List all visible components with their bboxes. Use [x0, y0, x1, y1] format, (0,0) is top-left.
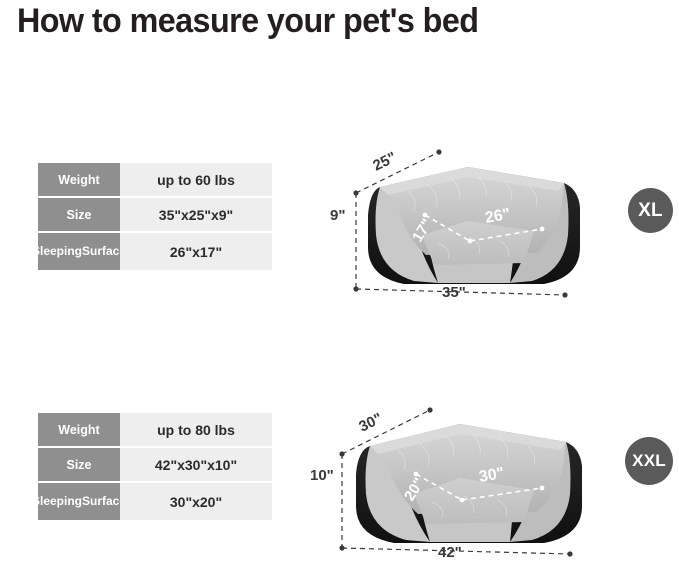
- spec-table-xxl: Weight up to 80 lbs Size 42"x30"x10" Sle…: [38, 413, 272, 522]
- pet-bed-illustration-xl: 25" 9" 35" 17" 26": [318, 95, 618, 305]
- spec-table-xl: Weight up to 60 lbs Size 35"x25"x9" Slee…: [38, 163, 272, 272]
- row-value-size: 35"x25"x9": [120, 198, 272, 231]
- pet-bed-illustration-xxl: 30" 10" 42" 20" 30": [308, 350, 618, 562]
- table-row: Weight up to 80 lbs: [38, 413, 272, 446]
- row-label-weight: Weight: [38, 413, 120, 446]
- row-value-sleeping-surface: 26"x17": [120, 233, 272, 270]
- row-value-size: 42"x30"x10": [120, 448, 272, 481]
- dimension-height-xl: 9": [330, 193, 359, 292]
- table-row: Sleeping Surface 30"x20": [38, 483, 272, 520]
- row-label-weight: Weight: [38, 163, 120, 196]
- row-value-sleeping-surface: 30"x20": [120, 483, 272, 520]
- row-value-weight: up to 80 lbs: [120, 413, 272, 446]
- dimension-label-height-xxl: 10": [310, 467, 334, 484]
- table-row: Sleeping Surface 26"x17": [38, 233, 272, 270]
- dimension-height-xxl: 10": [310, 454, 345, 551]
- table-row: Weight up to 60 lbs: [38, 163, 272, 196]
- row-label-size: Size: [38, 198, 120, 231]
- row-value-weight: up to 60 lbs: [120, 163, 272, 196]
- dimension-label-width-xl: 35": [442, 284, 466, 301]
- page-title: How to measure your pet's bed: [17, 2, 478, 41]
- row-label-sleeping-surface: Sleeping Surface: [38, 233, 120, 270]
- dimension-label-height-xl: 9": [330, 207, 345, 224]
- row-label-sleeping-surface: Sleeping Surface: [38, 483, 120, 520]
- dimension-width-xxl: 42": [342, 544, 573, 561]
- dimension-label-width-xxl: 42": [438, 544, 462, 561]
- dimension-label-depth-xl: 25": [370, 149, 399, 175]
- row-label-size: Size: [38, 448, 120, 481]
- size-badge-xl: XL: [628, 188, 673, 233]
- sleeping-label-line1: Sleeping: [32, 245, 82, 258]
- sleeping-label-line1: Sleeping: [32, 495, 82, 508]
- dimension-label-depth-xxl: 30": [356, 410, 385, 436]
- size-badge-xxl: XXL: [625, 437, 673, 485]
- table-row: Size 42"x30"x10": [38, 448, 272, 481]
- table-row: Size 35"x25"x9": [38, 198, 272, 231]
- dimension-width-xl: 35": [356, 284, 568, 301]
